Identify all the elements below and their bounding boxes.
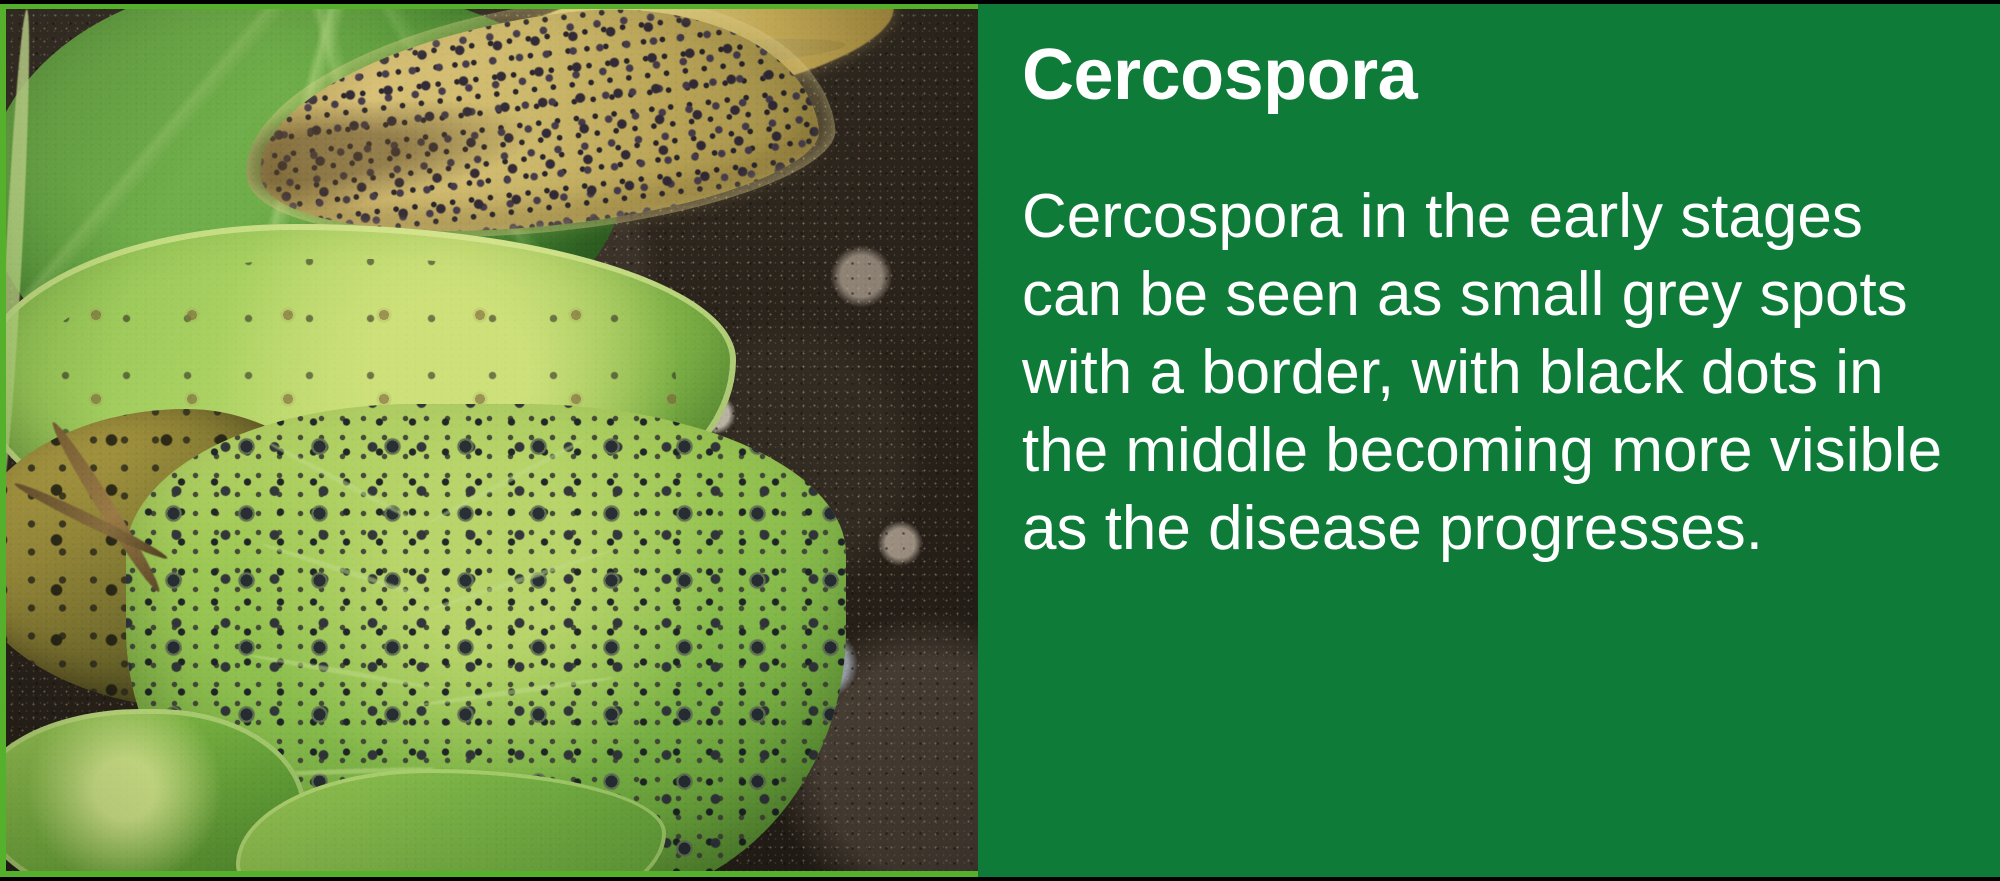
slide-root: Cercospora Cercospora in the early stage… — [0, 0, 2000, 881]
description-text: Cercospora in the early stages can be se… — [1022, 178, 1952, 568]
cercospora-leaf-photo — [6, 9, 978, 871]
info-panel: Cercospora Cercospora in the early stage… — [978, 4, 2000, 877]
photo-panel — [0, 4, 978, 877]
page-title: Cercospora — [1022, 38, 1960, 114]
